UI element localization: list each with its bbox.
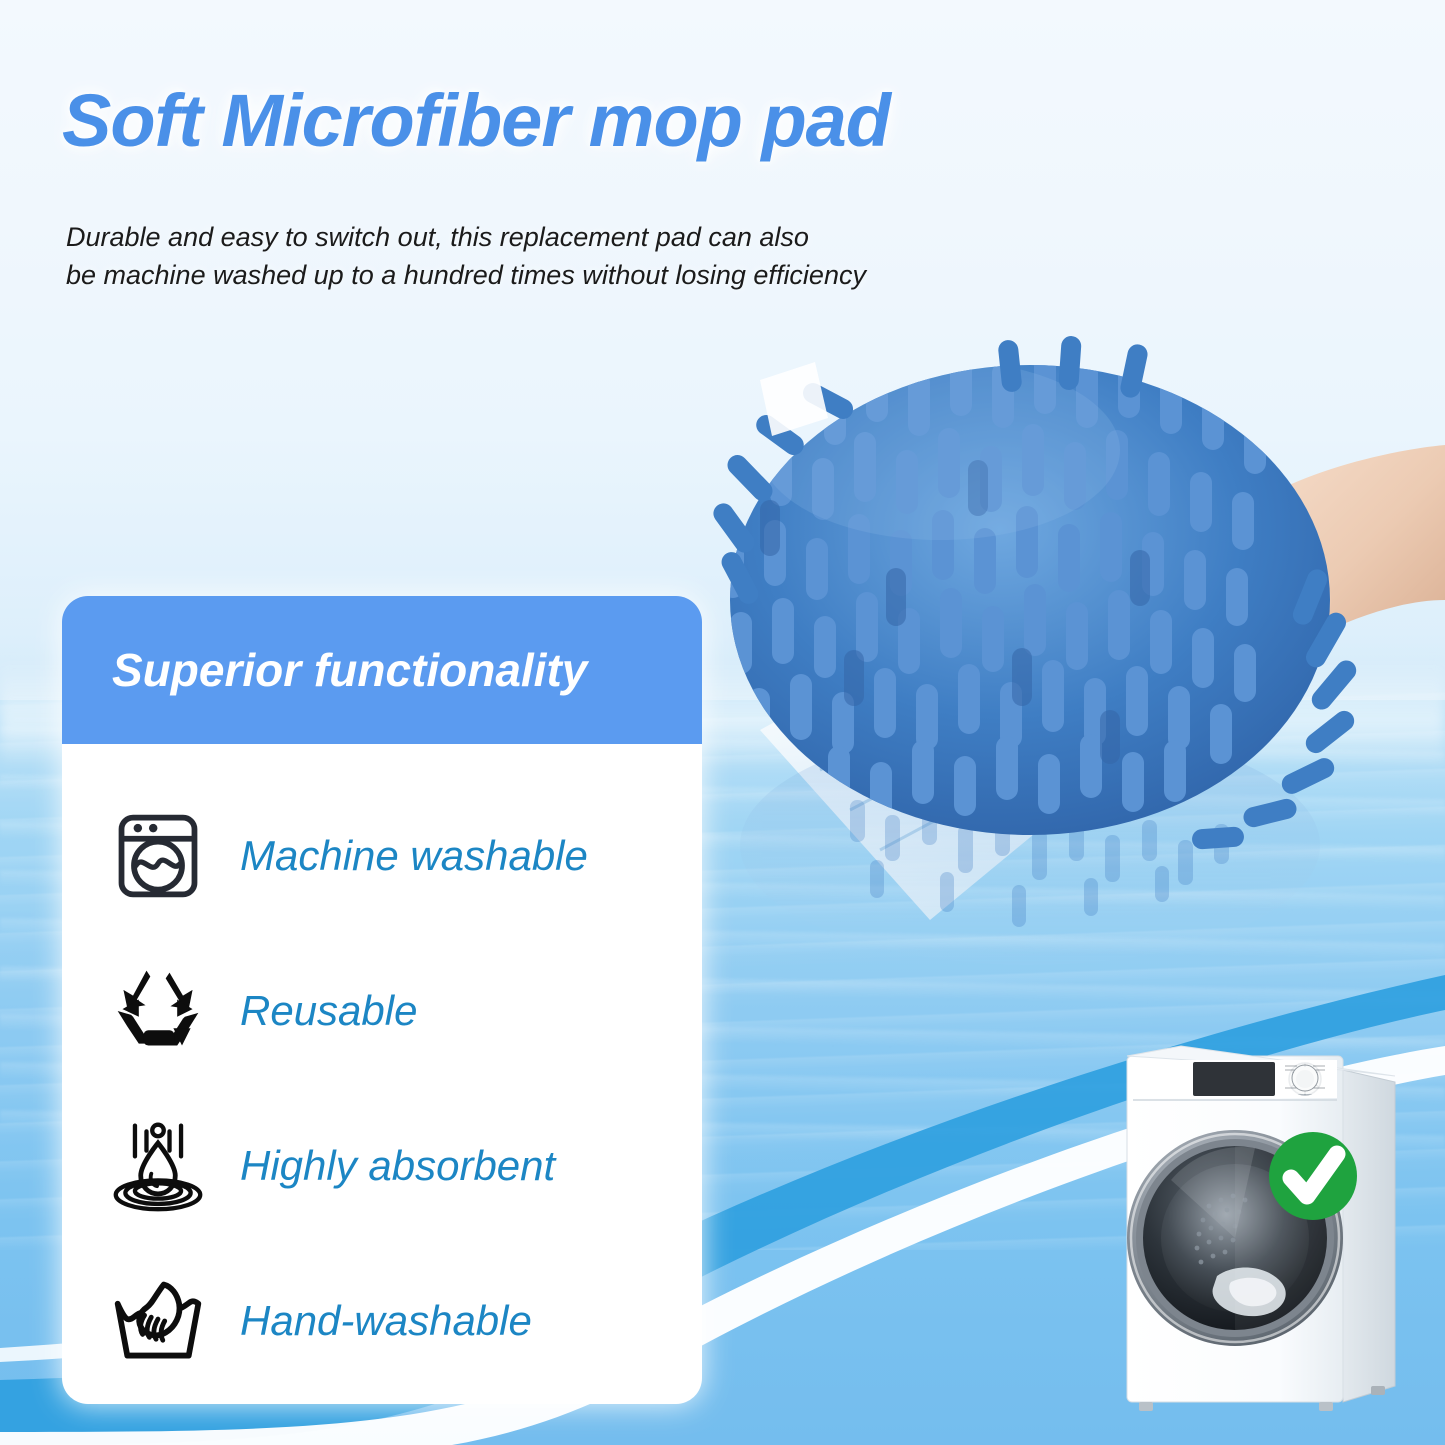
washer-display [1193,1062,1275,1096]
infographic-canvas: Soft Microfiber mop pad Durable and easy… [0,0,1445,1445]
washing-machine-photo [1105,1030,1405,1430]
hand-wash-basin-icon [98,1269,218,1373]
feature-label: Hand-washable [240,1300,532,1342]
feature-label: Machine washable [240,835,588,877]
washing-machine-icon [98,804,218,908]
green-check-badge [1269,1132,1357,1220]
page-subtitle-line1: Durable and easy to switch out, this rep… [66,218,1116,256]
list-item: Reusable [62,933,702,1088]
superior-functionality-card: Superior functionality Machine washable [62,596,702,1404]
card-header: Superior functionality [62,596,702,744]
feature-list: Machine washable [62,744,702,1398]
list-item: Hand-washable [62,1243,702,1398]
card-header-title: Superior functionality [112,643,587,697]
feature-label: Reusable [240,990,417,1032]
recycle-icon [98,959,218,1063]
water-drop-ripple-icon [98,1114,218,1218]
list-item: Machine washable [62,778,702,933]
feature-label: Highly absorbent [240,1145,555,1187]
page-title: Soft Microfiber mop pad [62,82,1262,160]
page-subtitle: Durable and easy to switch out, this rep… [66,218,1116,295]
mop-pad-product-photo [700,300,1445,1000]
list-item: Highly absorbent [62,1088,702,1243]
page-subtitle-line2: be machine washed up to a hundred times … [66,256,1116,294]
